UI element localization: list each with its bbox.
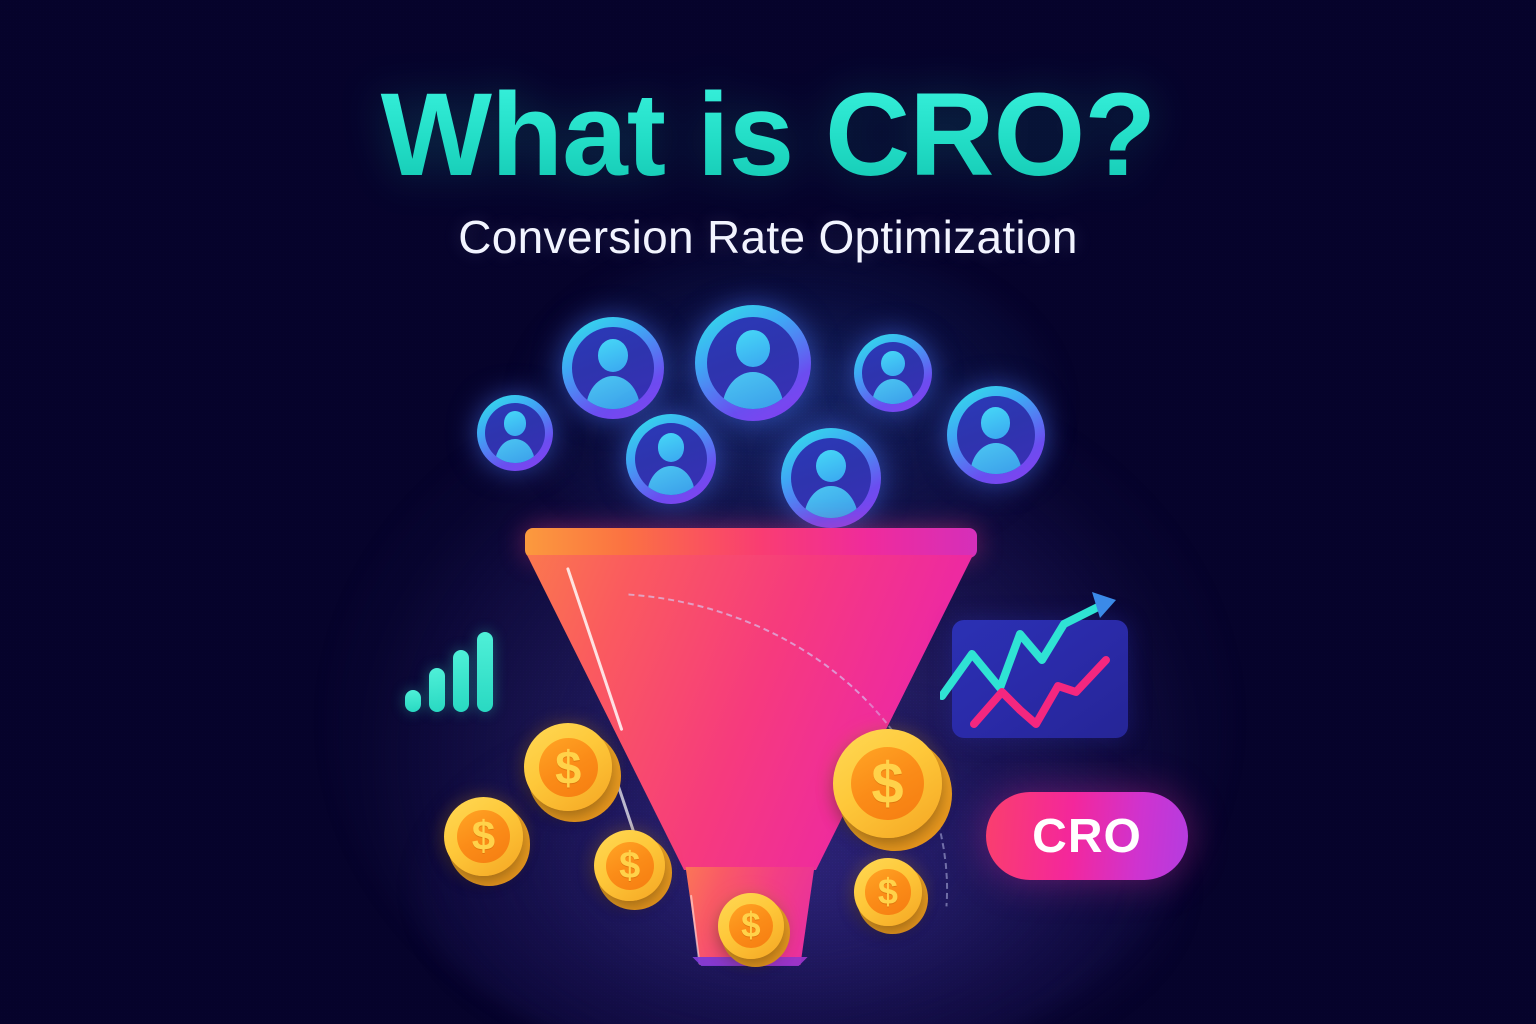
avatar-2 [562,317,664,419]
avatar-body-icon [647,466,695,495]
avatar-4 [854,334,932,412]
coin-face: $ [851,747,924,820]
avatar-body-icon [495,439,536,463]
avatar-body-icon [970,443,1023,474]
avatar-inner [957,396,1035,474]
avatar-body-icon [722,372,784,409]
chart-line-lower [974,660,1106,724]
coin-dollar-symbol: $ [741,908,760,943]
coin-dollar-symbol: $ [472,815,495,857]
coin-1: $ [524,723,618,817]
avatar-inner [572,327,654,409]
avatar-5 [626,414,716,504]
coin-face: $ [606,842,654,890]
coin-4: $ [833,729,949,845]
avatar-1 [477,395,553,471]
infographic-canvas: What is CRO? Conversion Rate Optimizatio… [0,0,1536,1024]
coin-dollar-symbol: $ [871,755,903,813]
avatar-inner [707,317,800,410]
header: What is CRO? Conversion Rate Optimizatio… [0,0,1536,264]
page-title: What is CRO? [0,76,1536,194]
analytics-bar-2 [429,668,445,712]
analytics-bars-icon [405,630,493,712]
avatar-head-icon [504,411,526,435]
page-subtitle: Conversion Rate Optimization [0,210,1536,264]
coin-2: $ [444,797,528,881]
cro-badge-label: CRO [1032,809,1142,864]
coin-face: $ [729,904,773,948]
avatar-head-icon [598,339,628,372]
avatar-inner [862,342,924,404]
coin-dollar-symbol: $ [619,847,640,885]
avatar-head-icon [816,450,846,482]
growth-chart-icon [940,588,1140,748]
coin-5: $ [718,893,788,963]
funnel-rim [525,528,977,558]
chart-line-upper [942,606,1100,696]
analytics-bar-3 [453,650,469,712]
coin-dollar-symbol: $ [555,744,581,791]
avatar-head-icon [736,330,770,367]
coin-dollar-symbol: $ [878,874,898,910]
coin-face: $ [865,869,910,914]
coin-3: $ [594,830,670,906]
coin-6: $ [854,858,926,930]
avatar-3 [695,305,811,421]
avatar-inner [635,423,707,495]
avatar-body-icon [586,376,641,409]
avatar-7 [947,386,1045,484]
avatar-body-icon [872,379,914,404]
coin-face: $ [539,738,598,797]
coin-face: $ [457,810,510,863]
analytics-bar-1 [405,690,421,712]
avatar-head-icon [658,433,685,462]
analytics-bar-4 [477,632,493,712]
avatar-head-icon [881,351,904,376]
cro-badge[interactable]: CRO [986,792,1188,880]
avatar-head-icon [981,407,1010,438]
